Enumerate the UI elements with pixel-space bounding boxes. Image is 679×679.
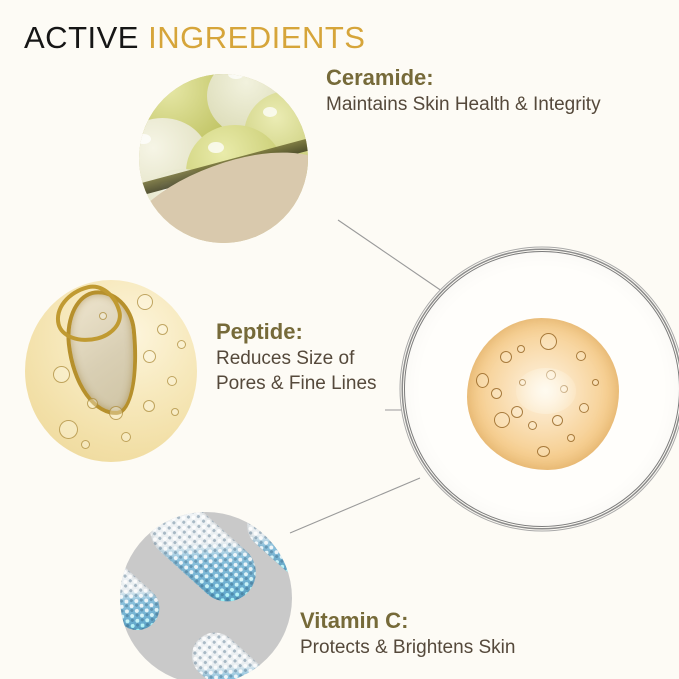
connector-ceramide [338,220,455,300]
title-word-ingredients: INGREDIENTS [148,20,365,55]
vitamin-c-heading: Vitamin C: [300,607,515,635]
vitamin-c-description: Protects & Brightens Skin [300,635,515,660]
ceramide-description: Maintains Skin Health & Integrity [326,92,601,117]
callout-vitamin-c: Vitamin C: Protects & Brightens Skin [300,607,515,660]
callout-ceramide: Ceramide: Maintains Skin Health & Integr… [326,64,601,117]
serum-droplet [467,318,619,470]
callout-peptide: Peptide: Reduces Size of Pores & Fine Li… [216,318,377,396]
center-petri-dish-image [404,251,679,527]
peptide-ingredient-image [25,280,197,462]
ceramide-heading: Ceramide: [326,64,601,92]
active-ingredients-infographic: ACTIVE INGREDIENTS [0,0,679,679]
peptide-heading: Peptide: [216,318,377,346]
title-word-active: ACTIVE [24,20,139,55]
ceramide-ingredient-image [139,74,308,243]
peptide-description-line-1: Reduces Size of [216,346,377,371]
connector-vitaminc [290,478,420,533]
peptide-description-line-2: Pores & Fine Lines [216,371,377,396]
page-title: ACTIVE INGREDIENTS [24,20,365,56]
vitamin-c-ingredient-image [120,512,292,679]
